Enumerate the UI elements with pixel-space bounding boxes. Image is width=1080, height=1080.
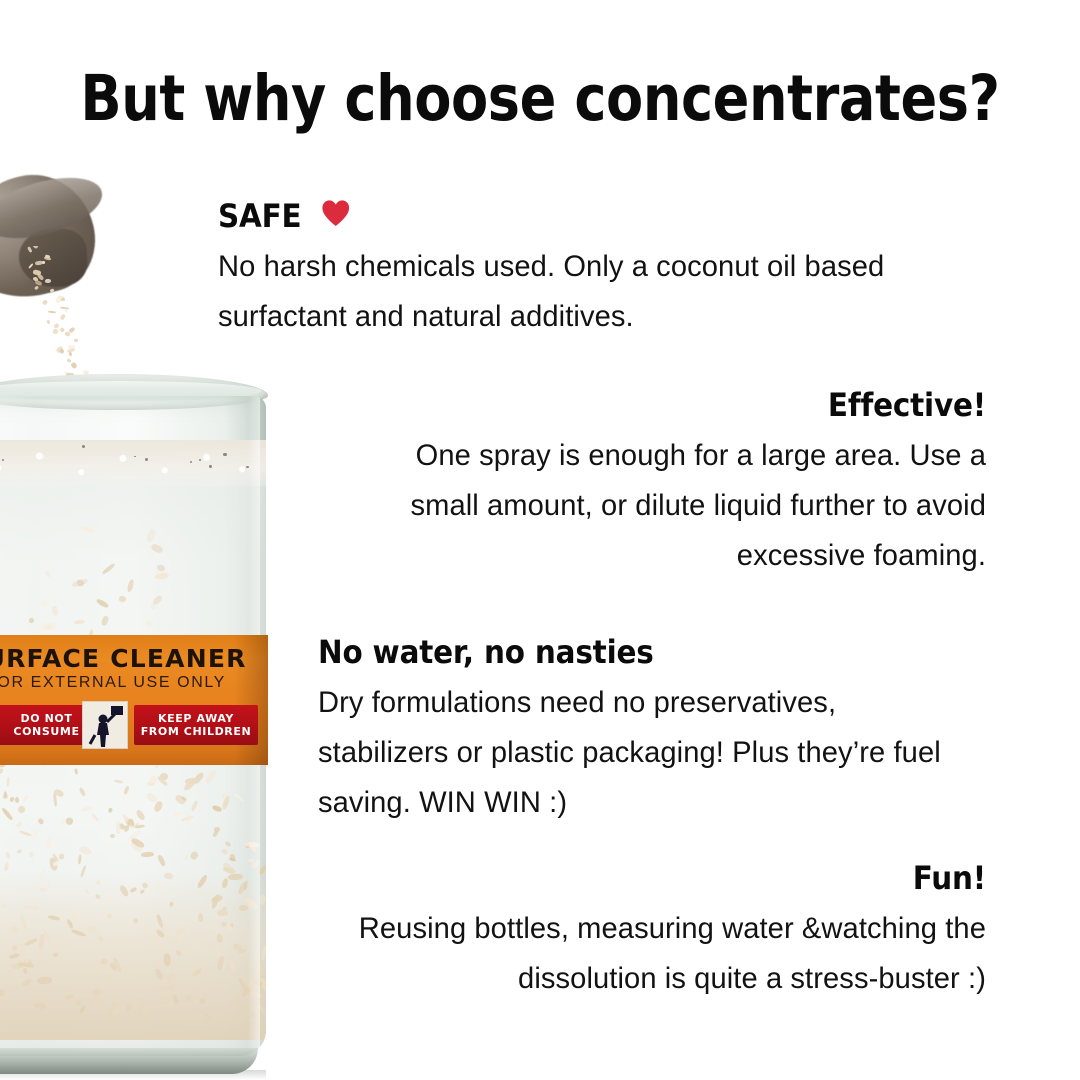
section-effective-body: One spray is enough for a large area. Us…	[340, 431, 986, 581]
flake-particle	[14, 797, 19, 803]
label-subtitle: FOR EXTERNAL USE ONLY	[0, 674, 248, 692]
foam-speck	[199, 459, 201, 461]
flake-particle	[59, 314, 66, 321]
flake-particle	[42, 260, 46, 264]
flake-particle	[32, 246, 38, 250]
foam-speck	[82, 445, 85, 448]
shelf-shadow	[0, 1070, 266, 1080]
keep-away-from-children-icon	[82, 701, 128, 749]
poster-canvas: But why choose concentrates? SURFACE CLE…	[0, 0, 1080, 1080]
foam-speck	[134, 456, 136, 458]
flake-particle	[47, 320, 51, 325]
label-warning-row: DO NOT CONSUME KEEP AWAY FROM CHILDREN	[0, 701, 264, 749]
flake-particle	[65, 818, 72, 825]
section-safe-body: No harsh chemicals used. Only a coconut …	[218, 242, 965, 342]
foam-speck	[190, 461, 192, 463]
settled-flakes	[0, 870, 266, 1040]
flake-particle	[118, 595, 126, 602]
flake-particle	[50, 289, 54, 293]
flake-particle	[28, 263, 34, 269]
section-safe: SAFE No harsh chemicals used. Only a coc…	[218, 196, 988, 342]
section-effective: Effective! One spray is enough for a lar…	[320, 385, 986, 581]
section-effective-heading: Effective!	[373, 385, 986, 425]
section-fun: Fun! Reusing bottles, measuring water &w…	[286, 858, 986, 1004]
section-safe-heading: SAFE	[218, 196, 926, 236]
flake-particle	[74, 339, 78, 343]
flake-particle	[174, 811, 182, 815]
foam-speck	[2, 459, 4, 461]
section-fun-heading: Fun!	[342, 858, 986, 898]
flake-particle	[68, 352, 72, 357]
section-no-water-body: Dry formulations need no preservatives, …	[318, 678, 968, 828]
falling-flakes-stream	[22, 246, 132, 386]
section-no-water: No water, no nasties Dry formulations ne…	[318, 632, 988, 828]
flake-particle	[28, 246, 33, 252]
red-heart-icon	[321, 197, 350, 229]
flake-particle	[71, 362, 79, 370]
warning-keep-away-from-children: KEEP AWAY FROM CHILDREN	[134, 705, 258, 745]
foam-layer	[0, 440, 266, 486]
flake-particle	[60, 298, 64, 301]
flake-particle	[52, 329, 58, 335]
section-no-water-heading: No water, no nasties	[318, 632, 934, 672]
flake-particle	[68, 326, 75, 333]
flake-particle	[42, 299, 49, 306]
foam-speck	[209, 465, 211, 467]
section-fun-body: Reusing bottles, measuring water &watchi…	[307, 904, 986, 1004]
flake-particle	[110, 833, 115, 838]
page-title: But why choose concentrates?	[76, 62, 1005, 135]
section-safe-heading-text: SAFE	[218, 197, 301, 235]
foam-speck	[145, 458, 148, 461]
foam-speck	[223, 453, 226, 456]
flake-particle	[48, 311, 56, 314]
product-label: SURFACE CLEANER FOR EXTERNAL USE ONLY DO…	[0, 635, 268, 765]
flake-particle	[34, 286, 39, 291]
label-title: SURFACE CLEANER	[0, 644, 248, 673]
flake-particle	[41, 623, 56, 630]
flake-particle	[45, 279, 51, 284]
